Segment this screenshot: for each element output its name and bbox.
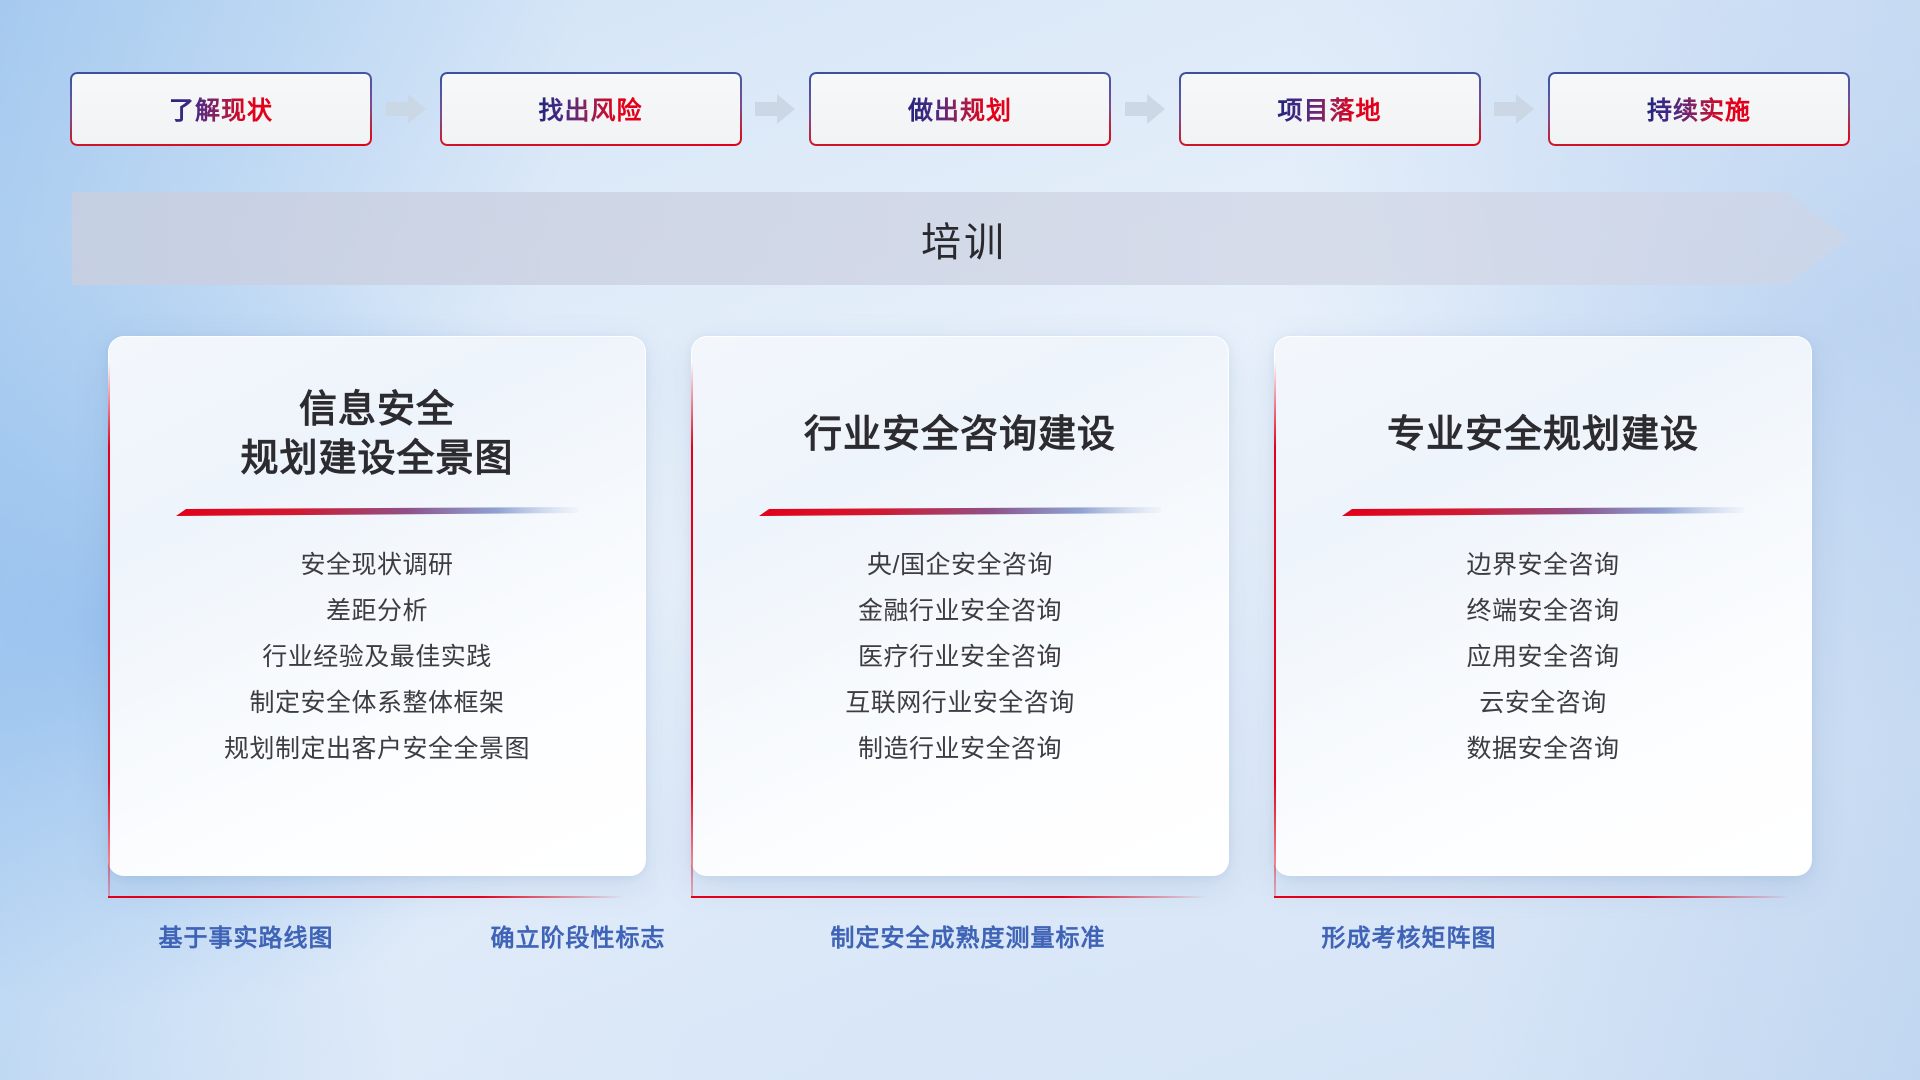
chevron-right-icon (755, 92, 795, 126)
list-item: 终端安全咨询 (1466, 590, 1619, 633)
caption-roadmap: 基于事实路线图 (159, 918, 334, 953)
step-label: 持续实施 (1647, 91, 1751, 127)
list-item: 边界安全咨询 (1466, 544, 1619, 587)
list-item: 制定安全体系整体框架 (249, 682, 504, 725)
step-label: 项目落地 (1277, 91, 1381, 127)
caption-maturity: 制定安全成熟度测量标准 (831, 918, 1106, 953)
list-item: 央/国企安全咨询 (867, 544, 1053, 587)
card-professional-security-planning[interactable]: 专业安全规划建设 (1274, 336, 1812, 876)
list-item: 应用安全咨询 (1466, 636, 1619, 679)
list-item: 云安全咨询 (1479, 682, 1607, 725)
card-wrap-1: 信息安全 规划建设全景图 (108, 336, 646, 876)
list-item: 差距分析 (326, 590, 428, 633)
card-information-security-blueprint[interactable]: 信息安全 规划建设全景图 (108, 336, 646, 876)
slide-root: 了解现状 找出风险 做出规划 项目落地 持续实施 (0, 0, 1920, 1080)
list-item: 制造行业安全咨询 (858, 728, 1062, 771)
card-title: 专业安全规划建设 (1387, 383, 1699, 487)
card-divider (176, 507, 578, 518)
card-title-line: 规划建设全景图 (240, 435, 513, 484)
card-wrap-2: 行业安全咨询建设 (691, 336, 1229, 876)
step-label: 找出风险 (538, 91, 642, 127)
card-title-line: 专业安全规划建设 (1387, 411, 1699, 460)
list-item: 金融行业安全咨询 (858, 590, 1062, 633)
card-title-line: 信息安全 (240, 386, 513, 435)
chevron-right-icon (1494, 92, 1534, 126)
card-divider (759, 507, 1161, 518)
step-box-1[interactable]: 了解现状 (70, 72, 372, 146)
card-accent-left (691, 362, 693, 898)
card-wrap-3: 专业安全规划建设 (1274, 336, 1812, 876)
step-label: 了解现状 (169, 91, 273, 127)
chevron-right-icon (1125, 92, 1165, 126)
card-title: 信息安全 规划建设全景图 (240, 383, 513, 487)
card-accent-left (1274, 362, 1276, 898)
list-item: 医疗行业安全咨询 (858, 636, 1062, 679)
card-list: 央/国企安全咨询 金融行业安全咨询 医疗行业安全咨询 互联网行业安全咨询 制造行… (845, 544, 1075, 771)
chevron-right-icon (386, 92, 426, 126)
card-accent-left (108, 362, 110, 898)
step-box-5[interactable]: 持续实施 (1548, 72, 1850, 146)
cards-row: 信息安全 规划建设全景图 (108, 336, 1812, 876)
card-industry-security-consulting[interactable]: 行业安全咨询建设 (691, 336, 1229, 876)
step-box-3[interactable]: 做出规划 (809, 72, 1111, 146)
list-item: 数据安全咨询 (1466, 728, 1619, 771)
training-banner: 培训 (72, 192, 1848, 285)
banner-label: 培训 (72, 192, 1848, 285)
card-list: 安全现状调研 差距分析 行业经验及最佳实践 制定安全体系整体框架 规划制定出客户… (224, 544, 530, 771)
step-box-4[interactable]: 项目落地 (1179, 72, 1481, 146)
list-item: 互联网行业安全咨询 (845, 682, 1075, 725)
step-box-2[interactable]: 找出风险 (440, 72, 742, 146)
caption-row: 基于事实路线图 确立阶段性标志 制定安全成熟度测量标准 形成考核矩阵图 (0, 918, 1920, 964)
card-title-line: 行业安全咨询建设 (804, 411, 1116, 460)
list-item: 规划制定出客户安全全景图 (224, 728, 530, 771)
caption-matrix: 形成考核矩阵图 (1322, 918, 1497, 953)
card-accent-bottom (1274, 896, 1790, 898)
card-accent-bottom (691, 896, 1207, 898)
list-item: 行业经验及最佳实践 (262, 636, 492, 679)
card-accent-bottom (108, 896, 624, 898)
step-label: 做出规划 (908, 91, 1012, 127)
card-title: 行业安全咨询建设 (804, 383, 1116, 487)
process-steps: 了解现状 找出风险 做出规划 项目落地 持续实施 (70, 72, 1850, 146)
caption-milestone: 确立阶段性标志 (491, 918, 666, 953)
card-list: 边界安全咨询 终端安全咨询 应用安全咨询 云安全咨询 数据安全咨询 (1466, 544, 1619, 771)
list-item: 安全现状调研 (300, 544, 453, 587)
card-divider (1342, 507, 1744, 518)
